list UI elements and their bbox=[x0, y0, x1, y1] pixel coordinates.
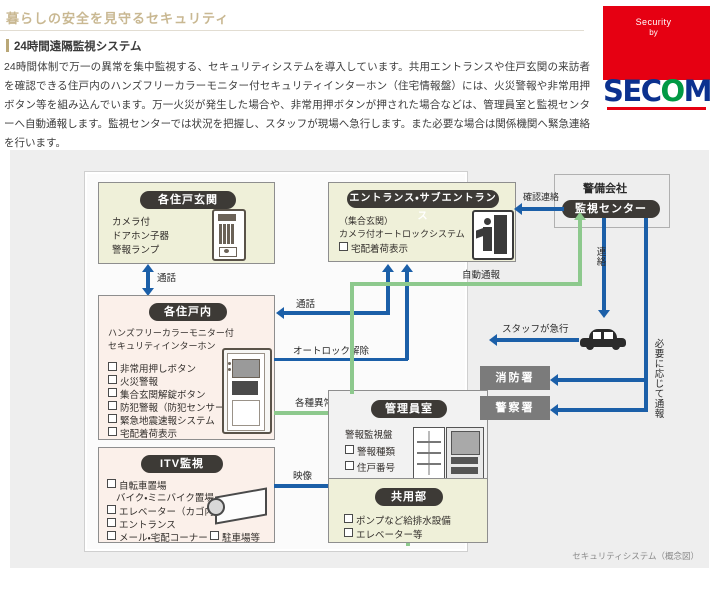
itv-item-extra: 駐車場等 bbox=[210, 531, 260, 546]
itv-camera-lens-icon bbox=[207, 498, 225, 516]
box-unit-entrance-title: 各住戸玄関 bbox=[140, 191, 236, 209]
intro-paragraph: 24時間体制で万一の異常を集中監視する、セキュリティシステムを導入しています。共… bbox=[4, 58, 590, 154]
connector-report-fire bbox=[558, 378, 648, 382]
box-unit-interior-title: 各住戸内 bbox=[149, 303, 227, 321]
arrow-report-fire-left bbox=[550, 374, 558, 386]
box-manager-room: 管理員室 警報監視盤 警報種類 住戸番号 bbox=[328, 390, 488, 490]
label-video: 映像 bbox=[293, 468, 312, 482]
secom-logo: Security by SECOM bbox=[600, 6, 713, 118]
box-entrance: エントランス・サブエントランス （集合玄関） カメラ付オートロックシステム 宅配… bbox=[328, 182, 516, 262]
logo-security-text: Security bbox=[600, 17, 707, 27]
unit-entrance-line-1: カメラ付 bbox=[112, 216, 150, 230]
unit-entrance-line-2: ドアホン子器 bbox=[112, 230, 169, 244]
label-confirm-contact: 確認連絡 bbox=[523, 190, 559, 203]
label-auto-report: 自動通報 bbox=[462, 267, 500, 281]
autolock-door-icon bbox=[472, 210, 514, 260]
box-entrance-title: エントランス・サブエントランス bbox=[347, 190, 499, 208]
section-heading: 24時間遠隔監視システム bbox=[6, 38, 141, 54]
fire-department-node[interactable]: 消防署 bbox=[480, 366, 550, 390]
police-department-node[interactable]: 警察署 bbox=[480, 396, 550, 420]
arrow-auto-report-up bbox=[574, 212, 586, 220]
arrow-call-left bbox=[276, 307, 284, 319]
guard-company-label: 警備会社 bbox=[583, 180, 627, 196]
label-call-2: 通話 bbox=[296, 296, 315, 310]
logo-wordmark: SECOM bbox=[603, 77, 710, 106]
label-staff-dispatch: スタッフが急行 bbox=[502, 321, 569, 335]
connector-auto-report-riser bbox=[350, 282, 354, 394]
box-common-area: 共用部 ポンプなど給排水設備 エレベーター等 bbox=[328, 478, 488, 543]
entrance-item-0: 宅配着荷表示 bbox=[339, 242, 408, 257]
itv-sub-line: バイク・ミニバイク置場 bbox=[116, 492, 214, 506]
page-title: 暮らしの安全を見守るセキュリティ bbox=[6, 8, 229, 27]
doorphone-device-icon bbox=[212, 209, 246, 261]
connector-call-horizontal bbox=[284, 311, 390, 315]
itv-item-3: メール・宅配コーナー bbox=[107, 531, 208, 546]
logo-underline bbox=[607, 107, 706, 110]
connector-report-police bbox=[558, 408, 648, 412]
label-autolock: オートロック解除 bbox=[293, 343, 369, 357]
unit-interior-line-1: ハンズフリーカラーモニター付 bbox=[108, 327, 234, 340]
arrow-confirm-contact-left bbox=[514, 203, 522, 215]
connector-auto-report-horizontal bbox=[350, 282, 582, 286]
connector-auto-report-up bbox=[578, 220, 582, 284]
unit-entrance-line-3: 警報ランプ bbox=[112, 244, 159, 258]
entrance-line-1: （集合玄関） bbox=[339, 215, 393, 228]
manager-item-0: 警報種類 bbox=[345, 445, 395, 460]
connector-call-riser bbox=[386, 272, 390, 314]
arrow-contact-down bbox=[598, 310, 610, 318]
manager-line-1: 警報監視盤 bbox=[345, 429, 393, 443]
connector-autolock-horizontal bbox=[274, 358, 408, 361]
arrow-call-up bbox=[142, 264, 154, 272]
arrow-call-entrance-up bbox=[382, 264, 394, 272]
box-itv-title: ITV監視 bbox=[141, 455, 223, 473]
title-divider bbox=[0, 30, 584, 31]
patrol-car-icon bbox=[580, 327, 626, 351]
connector-call-vertical bbox=[146, 270, 150, 289]
arrow-staff-dispatch-left bbox=[489, 334, 497, 346]
box-unit-entrance: 各住戸玄関 カメラ付 ドアホン子器 警報ランプ bbox=[98, 182, 275, 264]
box-itv: ITV監視 自転車置場 バイク・ミニバイク置場 エレベーター（カゴ内） エントラ… bbox=[98, 447, 275, 543]
alarm-panel-icon bbox=[413, 427, 445, 479]
manager-item-1: 住戸番号 bbox=[345, 461, 395, 476]
entrance-line-2: カメラ付オートロックシステム bbox=[339, 228, 465, 241]
arrow-report-police-left bbox=[550, 404, 558, 416]
monitor-icon bbox=[446, 427, 484, 479]
connector-report-riser bbox=[644, 218, 648, 412]
label-call-1: 通話 bbox=[157, 270, 176, 284]
box-common-title: 共用部 bbox=[375, 488, 443, 506]
label-contact: 連絡 bbox=[596, 248, 607, 268]
logo-sec-letters: SEC bbox=[603, 74, 660, 108]
logo-by-text: by bbox=[600, 28, 707, 37]
logo-m-letter: M bbox=[684, 74, 711, 108]
arrow-autolock-up bbox=[401, 264, 413, 272]
unit-interior-item-5: 宅配着荷表示 bbox=[108, 427, 177, 442]
intercom-device-icon bbox=[222, 348, 272, 434]
logo-o-letter: O bbox=[660, 74, 683, 108]
label-report-as-needed: 必要に応じて通報 bbox=[654, 340, 665, 420]
connector-staff-dispatch bbox=[497, 338, 579, 342]
diagram-caption: セキュリティシステム（概念図） bbox=[572, 550, 699, 562]
box-manager-title: 管理員室 bbox=[371, 400, 447, 418]
box-unit-interior: 各住戸内 ハンズフリーカラーモニター付 セキュリティインターホン 非常用押しボタ… bbox=[98, 295, 275, 440]
connector-confirm-contact bbox=[522, 207, 564, 211]
unit-interior-line-2: セキュリティインターホン bbox=[108, 340, 215, 353]
common-item-1: エレベーター等 bbox=[344, 528, 423, 543]
diagram-panel: 各住戸玄関 カメラ付 ドアホン子器 警報ランプ 通話 各住戸内 ハンズフリーカラ… bbox=[10, 150, 709, 568]
common-item-0: ポンプなど給排水設備 bbox=[344, 514, 451, 529]
